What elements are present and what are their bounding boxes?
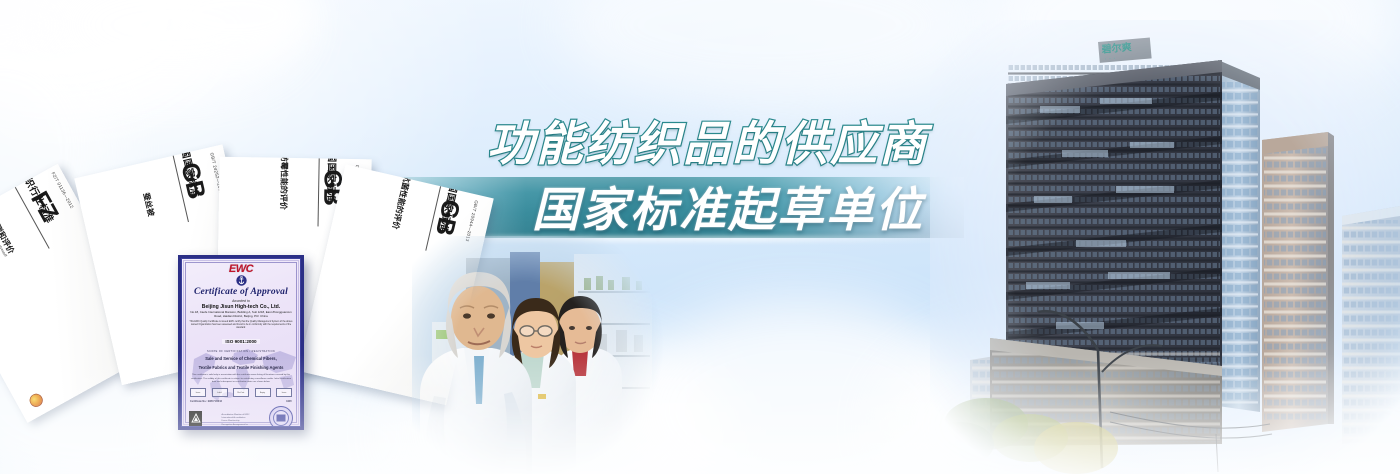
lab-team-photo-svg bbox=[412, 236, 664, 474]
date-box: Expiry bbox=[255, 388, 271, 397]
cloud-shape bbox=[40, 0, 300, 90]
main-tower-side bbox=[1218, 60, 1260, 412]
cloud-shape bbox=[620, 300, 980, 474]
ukas-mark-icon bbox=[189, 411, 202, 426]
hero-banner: 碧尔爽 · · · bbox=[0, 0, 1400, 474]
building-photo: 碧尔爽 · · · bbox=[930, 20, 1400, 474]
page-title: 功能纺织品的供应商 国家标准起草单位 bbox=[0, 112, 964, 242]
certificate-seal bbox=[269, 406, 293, 427]
certificate-number-label: Certificate No.: bbox=[190, 400, 207, 403]
national-emblem-icon bbox=[27, 391, 45, 409]
date-box: Re-Cert. bbox=[233, 388, 249, 397]
accreditation-text: Accreditation Member of EWC Internationa… bbox=[222, 414, 250, 427]
certificate-body-text: This certificate is valid only in associ… bbox=[182, 374, 300, 384]
date-box-label: Issue bbox=[282, 392, 287, 394]
date-box-label: Expiry bbox=[260, 392, 265, 394]
certificate-number: Certificate No.: EWC71/0042 bbox=[190, 400, 222, 403]
awarded-to-label: Awarded to bbox=[182, 299, 300, 303]
seal-core bbox=[276, 415, 285, 422]
certificate-body: EWC Certificate of Approval Awarded to B… bbox=[181, 258, 301, 427]
cloud-shape bbox=[0, 0, 210, 110]
certificate-number-value: EWC71/0042 bbox=[208, 400, 222, 403]
certificate-address: No.18, Caofe International Mansion, Buil… bbox=[182, 311, 300, 319]
anchor-icon bbox=[236, 275, 247, 286]
cloud-shape bbox=[560, 0, 980, 110]
neighbour-tower-far bbox=[1342, 206, 1400, 444]
certificate-footer: EWC-F-02 Accreditation Member of EWC Int… bbox=[182, 403, 300, 427]
certificate-legal-text: This EWC Quality Certificate is issued E… bbox=[182, 321, 300, 331]
certificate-date-boxes: Issue Initial Re-Cert. Expiry Issue bbox=[182, 388, 300, 397]
approval-certificate: EWC Certificate of Approval Awarded to B… bbox=[178, 255, 304, 430]
date-box: Initial bbox=[212, 388, 228, 397]
certificate-issuer-mark: EWC bbox=[286, 400, 292, 403]
date-box-label: Issue bbox=[196, 392, 201, 394]
date-box-label: Re-Cert. bbox=[237, 392, 244, 394]
certificate-scope-line-1: Sale and Service of Chemical Fibers, bbox=[182, 356, 300, 361]
date-box-label: Initial bbox=[217, 392, 221, 394]
accreditation-line: Recognition Arrangement for bbox=[222, 424, 250, 427]
date-box: Issue bbox=[276, 388, 292, 397]
date-box: Issue bbox=[190, 388, 206, 397]
headline-line-1: 功能纺织品的供应商 bbox=[0, 112, 928, 176]
building-photo-svg: 碧尔爽 · · · bbox=[930, 20, 1400, 474]
cloud-shape bbox=[150, 0, 320, 60]
certificate-scope-line-2: Textile Fabrics and Textile Finishing Ag… bbox=[182, 365, 300, 370]
headline-line-2: 国家标准起草单位 bbox=[0, 178, 928, 242]
neighbour-tower-mid bbox=[1262, 132, 1334, 432]
lab-team-photo bbox=[412, 236, 664, 474]
rooftop-sign-reflection: · · · bbox=[1104, 55, 1115, 63]
certificate-title: Certificate of Approval bbox=[182, 287, 300, 297]
certificate-scope-label: SCOPE OF CERTIFICATION / REGISTRATION bbox=[182, 350, 300, 353]
ewc-logo: EWC bbox=[182, 263, 300, 275]
certificate-standard: ISO 9001:2000 bbox=[222, 339, 259, 344]
